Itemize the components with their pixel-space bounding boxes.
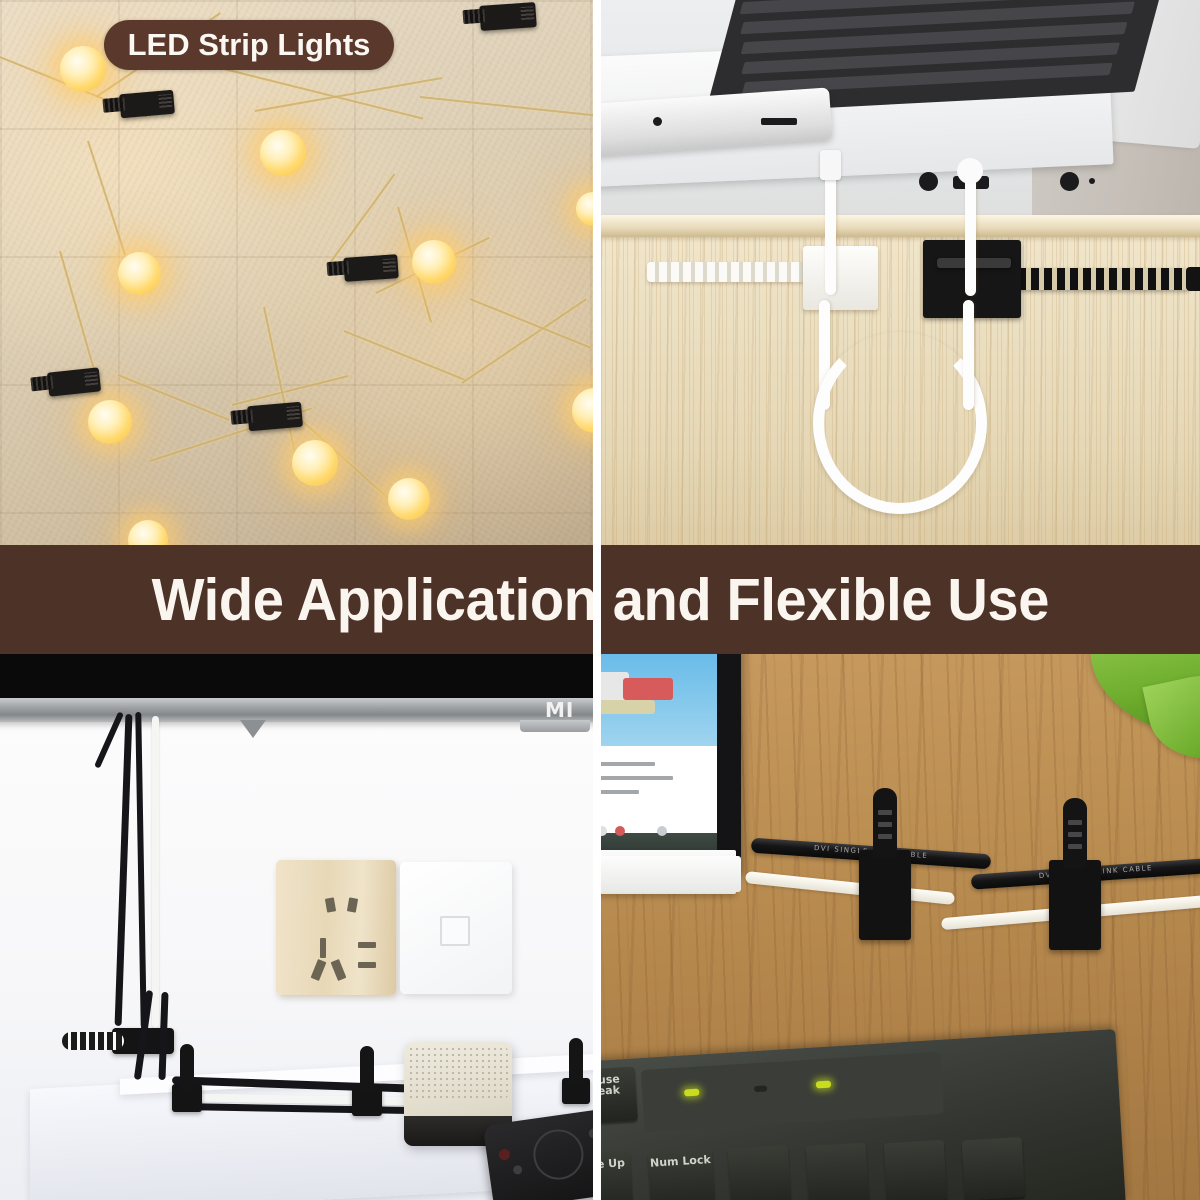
outlet-hole	[325, 897, 336, 912]
clip-strap	[62, 1032, 124, 1050]
clip-jaw	[102, 97, 125, 113]
screen-content	[623, 678, 673, 700]
remote-button	[513, 1165, 523, 1175]
num-lock-led	[684, 1089, 699, 1097]
product-infographic: LED Strip Lights	[0, 0, 1200, 1200]
clip-pad	[286, 406, 300, 420]
cable-sleeve	[957, 158, 983, 184]
lightning-connector	[820, 150, 841, 180]
cable-loop	[813, 332, 987, 514]
clip-slot	[1068, 820, 1082, 825]
phone-headphone-port	[653, 117, 662, 126]
key-num-lock[interactable]: Num Lock	[648, 1148, 716, 1200]
clip-slot	[878, 810, 892, 815]
clip-pad	[520, 6, 534, 20]
screen-text-line	[601, 762, 655, 766]
outlet-hole	[320, 938, 326, 958]
outlet-hole	[331, 959, 347, 981]
lightning-cable	[825, 160, 836, 295]
screen-text-line	[601, 790, 639, 794]
caption-text: LED Strip Lights	[128, 27, 371, 63]
clip-jaw	[30, 375, 53, 391]
speaker-mesh	[408, 1046, 508, 1100]
cable-clip	[479, 2, 537, 31]
screen-content	[601, 700, 655, 714]
cable-clip	[247, 402, 303, 432]
clip-jaw	[326, 261, 349, 277]
screen-text-line	[601, 776, 673, 780]
key-blank[interactable]	[806, 1143, 870, 1200]
clip-tail	[360, 1046, 374, 1092]
monitor-screen	[601, 654, 717, 866]
cable-clip	[343, 254, 399, 282]
laptop-indicator	[1089, 178, 1095, 184]
taskbar-icon	[657, 826, 667, 836]
outlet-hole	[358, 962, 376, 968]
panel-office-cabling: DVI SINGLE LINK CABLE DVI SINGLE LINK CA…	[601, 654, 1200, 1200]
key-page-up[interactable]: Page Up	[601, 1151, 633, 1200]
monitor-foot	[601, 856, 741, 892]
cable-clip	[119, 90, 175, 119]
clip-slot	[878, 834, 892, 839]
black-clip-strap	[1005, 268, 1190, 290]
outlet-hole	[347, 897, 358, 912]
tv-screen	[0, 654, 593, 702]
led-bulb	[260, 130, 306, 176]
led-bulb	[388, 478, 430, 520]
cable-clip	[352, 1086, 382, 1116]
key-blank[interactable]	[884, 1140, 948, 1200]
cable-clip	[172, 1084, 202, 1112]
desk-edge	[601, 215, 1200, 237]
wall-plate	[400, 862, 512, 994]
white-cable-clip	[803, 246, 878, 310]
laptop-audio-port	[919, 172, 938, 191]
wall-outlet	[276, 860, 396, 995]
laptop-audio-port	[1060, 172, 1079, 191]
outlet-hole	[358, 942, 376, 948]
cable-clip	[859, 850, 911, 940]
clip-pad	[84, 372, 98, 386]
led-bulb	[412, 240, 456, 284]
led-bulb	[118, 252, 161, 295]
cable-clip	[562, 1078, 590, 1104]
caption-pill-led-strip-lights: LED Strip Lights	[104, 20, 394, 70]
remote-power-button	[498, 1148, 510, 1160]
tv-white-cord	[152, 716, 159, 1028]
taskbar-icon	[615, 826, 625, 836]
led-bulb	[292, 440, 338, 486]
clip-jaw	[230, 409, 253, 425]
clip-pad	[382, 258, 396, 272]
caps-lock-led	[754, 1085, 767, 1092]
panel-led-strip-lights: LED Strip Lights	[0, 0, 593, 545]
tv-brand-logo: MI	[545, 698, 574, 722]
clip-pad	[158, 94, 172, 108]
cable-clip	[1049, 860, 1101, 950]
clip-jaw	[462, 9, 485, 25]
led-bulb	[60, 46, 106, 92]
strap-tip	[1186, 267, 1200, 291]
tv-stand-neck	[520, 720, 590, 732]
remote-dpad	[530, 1126, 586, 1182]
key-blank[interactable]	[728, 1145, 792, 1200]
lightning-cable	[965, 176, 976, 296]
panel-entertainment-center: MI	[0, 654, 593, 1200]
clip-tail	[180, 1044, 194, 1090]
keyboard: Pause Break Page Up Num Lock	[601, 1029, 1126, 1200]
scroll-lock-led	[816, 1081, 831, 1089]
panel-desk-wire-management: Desk Wire Management	[601, 0, 1200, 545]
outlet-hole	[311, 959, 327, 981]
phone-speaker-grille	[761, 118, 797, 125]
lightning-cable	[963, 300, 974, 410]
clip-tail	[569, 1038, 583, 1084]
key-pause-break[interactable]: Pause Break	[601, 1066, 638, 1124]
tv-bezel	[0, 698, 593, 722]
key-blank[interactable]	[962, 1137, 1026, 1200]
led-bulb	[88, 400, 132, 444]
clip-slot	[1068, 844, 1082, 849]
clip-slot	[878, 822, 892, 827]
clip-slot	[1068, 832, 1082, 837]
panel-divider-vertical	[593, 0, 601, 1200]
ethernet-jack	[440, 916, 470, 946]
